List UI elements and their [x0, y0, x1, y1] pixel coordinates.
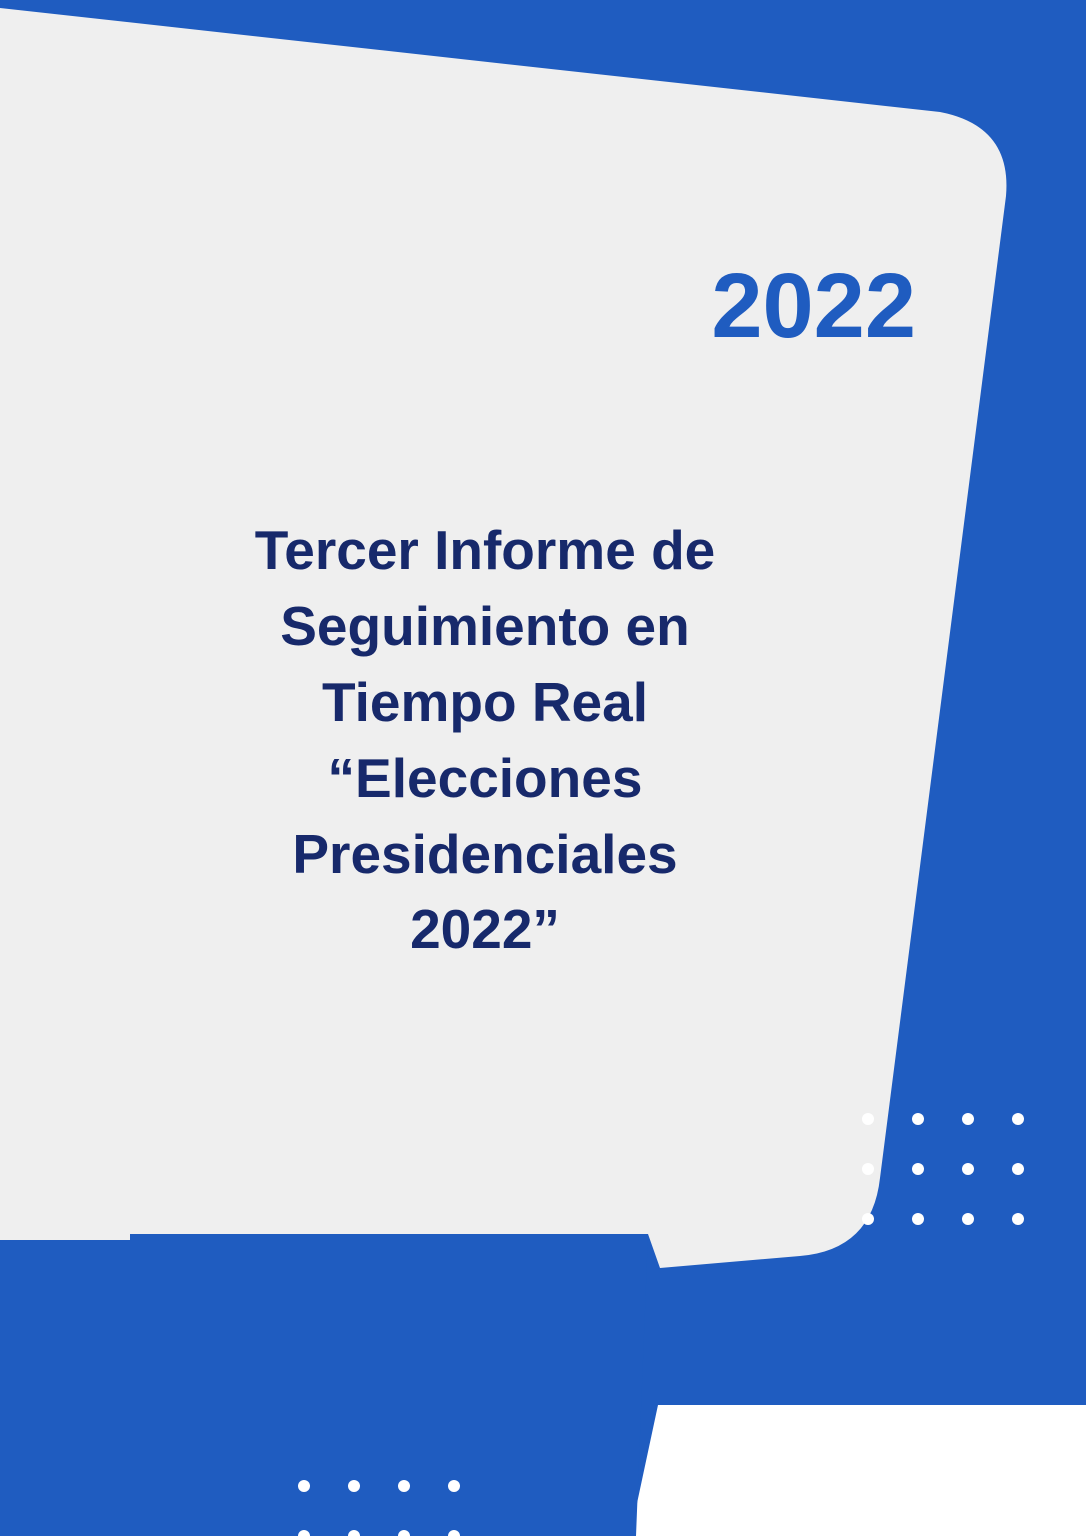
dot	[298, 1530, 310, 1536]
title-line-2: Seguimiento en	[181, 589, 789, 665]
title-line-6: 2022”	[181, 892, 789, 968]
dot	[1012, 1163, 1024, 1175]
title-line-3: Tiempo Real	[181, 665, 789, 741]
dot	[448, 1530, 460, 1536]
dot	[298, 1480, 310, 1492]
dot	[862, 1163, 874, 1175]
dot-grid-bottom	[298, 1480, 460, 1536]
dot	[448, 1480, 460, 1492]
dot	[862, 1213, 874, 1225]
dot	[1012, 1113, 1024, 1125]
dot	[1012, 1213, 1024, 1225]
title-line-4: “Elecciones	[181, 741, 789, 817]
cover-page: 2022 Tercer Informe de Seguimiento en Ti…	[0, 0, 1086, 1536]
dot	[912, 1213, 924, 1225]
dot	[962, 1213, 974, 1225]
dot	[912, 1163, 924, 1175]
dot	[348, 1530, 360, 1536]
dot-grid-right	[862, 1113, 1024, 1225]
title-line-5: Presidenciales	[181, 817, 789, 893]
dot	[398, 1480, 410, 1492]
dot	[862, 1113, 874, 1125]
cover-year: 2022	[0, 258, 916, 355]
dot	[348, 1480, 360, 1492]
dot	[398, 1530, 410, 1536]
dot	[912, 1113, 924, 1125]
dot	[962, 1113, 974, 1125]
cover-title: Tercer Informe de Seguimiento en Tiempo …	[181, 513, 789, 968]
title-line-1: Tercer Informe de	[181, 513, 789, 589]
dot	[962, 1163, 974, 1175]
